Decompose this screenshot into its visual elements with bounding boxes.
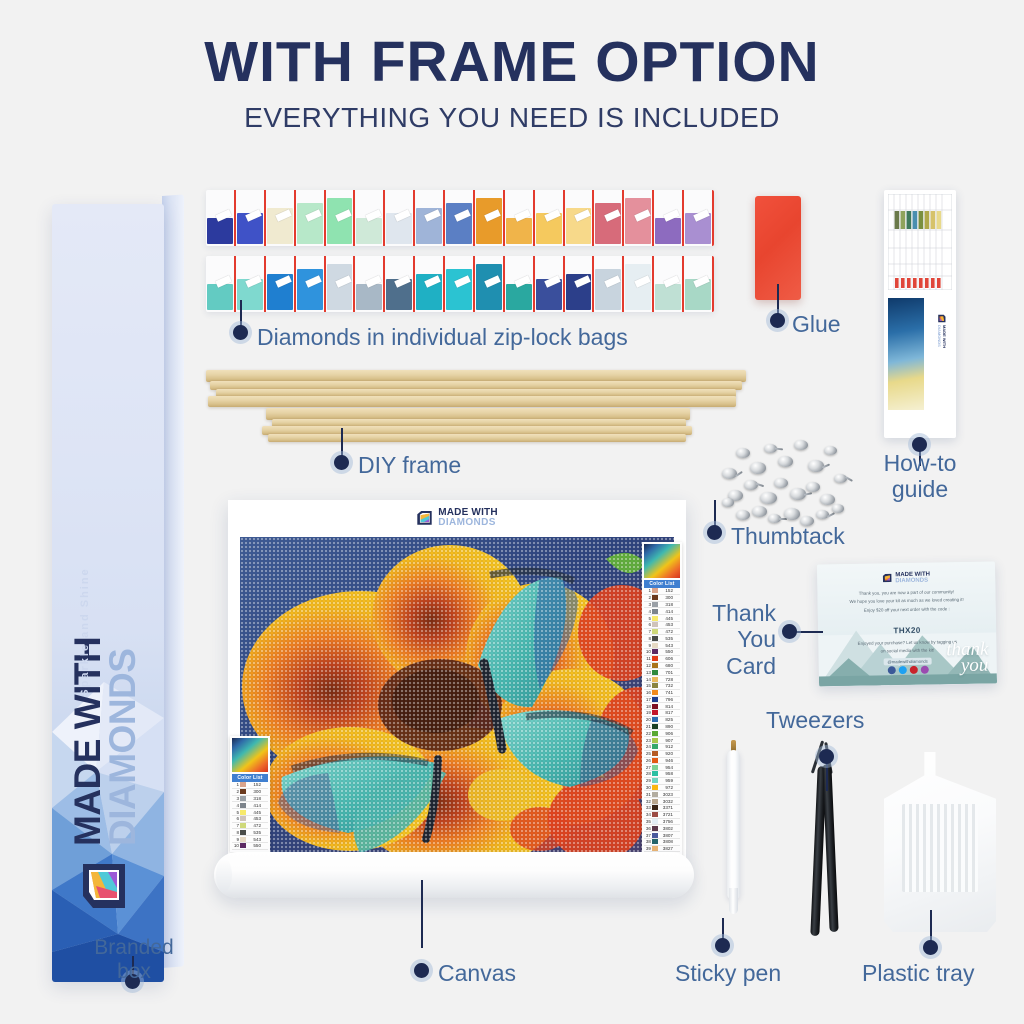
- thumbtack-leader-line: [714, 500, 716, 528]
- legend-row-code: 318: [659, 602, 673, 607]
- legend-row: 3318: [232, 796, 268, 803]
- legend-row-swatch: [240, 830, 246, 835]
- legend-row: 2300: [644, 595, 680, 602]
- legend-row-swatch: [652, 588, 658, 593]
- diamond-bag: [654, 256, 684, 312]
- legend-row-number: 2: [232, 789, 239, 794]
- thank-you-card-leader-line: [793, 631, 823, 633]
- legend-row-swatch: [652, 826, 658, 831]
- diamond-bag: [355, 256, 385, 312]
- pen-cone: [729, 888, 738, 914]
- tweezer-arm-right: [822, 764, 838, 932]
- canvas-artwork: [240, 537, 674, 855]
- pen-body: [727, 750, 740, 900]
- diamond-bag: [535, 190, 565, 246]
- legend-row-code: 701: [659, 670, 673, 675]
- thumbtack-head: [760, 492, 777, 504]
- plastic-tray-dot: [923, 940, 938, 955]
- guide-color-table: [888, 194, 952, 290]
- legend-row: 373807: [644, 832, 680, 839]
- legend-row: 27954: [644, 764, 680, 771]
- legend-row-number: 9: [232, 837, 239, 842]
- legend-row: 7472: [232, 823, 268, 830]
- bag-diamond-fill: [207, 218, 233, 244]
- how-to-guide-label: How-to guide: [860, 450, 980, 503]
- diamond-bag: [565, 190, 595, 246]
- bag-diamond-fill: [476, 198, 502, 244]
- legend-row: 19817: [644, 710, 680, 717]
- legend-row-code: 959: [659, 778, 673, 783]
- legend-row-code: 414: [247, 803, 261, 808]
- legend-row-number: 29: [644, 778, 651, 783]
- glue-label: Glue: [792, 311, 841, 337]
- legend-row-code: 3808: [659, 839, 673, 844]
- diamond-bag: [475, 190, 505, 246]
- legend-row-swatch: [652, 616, 658, 621]
- legend-row: 333371: [644, 805, 680, 812]
- canvas-product: MADE WITH DIAMONDS: [228, 500, 686, 900]
- legend-row-swatch: [652, 683, 658, 688]
- legend-rows: 1152230033184414544564537472853595431055…: [644, 588, 680, 859]
- legend-row: 3318: [644, 602, 680, 609]
- legend-row: 12680: [644, 663, 680, 670]
- page-title: WITH FRAME OPTION: [0, 34, 1024, 91]
- legend-row-code: 732: [659, 683, 673, 688]
- legend-row-code: 3032: [659, 799, 673, 804]
- legend-row: 1152: [232, 782, 268, 789]
- diamond-bag: [654, 190, 684, 246]
- legend-row-code: 472: [247, 823, 261, 828]
- legend-row-number: 10: [232, 843, 239, 848]
- bag-seal: [712, 256, 714, 312]
- legend-row-code: 907: [659, 738, 673, 743]
- branded-box-label: Branded box: [46, 936, 222, 984]
- legend-row-swatch: [652, 636, 658, 641]
- legend-row-code: 680: [659, 663, 673, 668]
- legend-row-swatch: [652, 744, 658, 749]
- card-social-handle: @madewithdiamonds: [883, 658, 931, 666]
- legend-row-code: 825: [659, 717, 673, 722]
- bag-diamond-fill: [506, 284, 532, 310]
- legend-row-number: 9: [644, 643, 651, 648]
- legend-row-swatch: [240, 796, 246, 801]
- sticky-pen-label: Sticky pen: [675, 960, 781, 986]
- legend-row-swatch: [652, 602, 658, 607]
- legend-row-code: 3802: [659, 826, 673, 831]
- legend-row-swatch: [652, 812, 658, 817]
- legend-row-number: 22: [644, 731, 651, 736]
- diamond-bag: [326, 256, 356, 312]
- legend-row-swatch: [652, 643, 658, 648]
- legend-row-swatch: [652, 629, 658, 634]
- legend-row-swatch: [652, 697, 658, 702]
- legend-row: 9543: [644, 642, 680, 649]
- glue-dot: [770, 313, 785, 328]
- legend-row-code: 972: [659, 785, 673, 790]
- bag-diamond-fill: [655, 218, 681, 244]
- legend-row: 21890: [644, 724, 680, 731]
- legend-row: 30972: [644, 785, 680, 792]
- legend-row: 1152: [644, 588, 680, 595]
- thumbtack-head: [736, 448, 750, 458]
- legend-row-swatch: [652, 704, 658, 709]
- legend-row-number: 25: [644, 751, 651, 756]
- diamond-bag: [385, 190, 415, 246]
- legend-row-swatch: [652, 690, 658, 695]
- canvas-roll: [214, 852, 694, 898]
- legend-row-swatch: [240, 837, 246, 842]
- legend-row-swatch: [240, 810, 246, 815]
- box-front-face: MADE WITH DIAMONDS: [52, 204, 164, 982]
- legend-row-number: 37: [644, 833, 651, 838]
- legend-row: 6453: [644, 622, 680, 629]
- diamond-bag: [684, 190, 714, 246]
- legend-row: 28958: [644, 771, 680, 778]
- bag-diamond-fill: [506, 218, 532, 244]
- diamond-bag: [206, 190, 236, 246]
- box-brand-line2: DIAMONDS: [106, 637, 141, 846]
- legend-row-code: 550: [659, 649, 673, 654]
- thumbtack-pin: [845, 476, 853, 482]
- canvas-diamond-logo-icon: [416, 510, 433, 527]
- legend-row-code: 728: [659, 677, 673, 682]
- sticky-pen-product: [723, 738, 745, 918]
- legend-row: 13701: [644, 669, 680, 676]
- legend-row-number: 3: [232, 796, 239, 801]
- legend-row-code: 152: [659, 588, 673, 593]
- legend-row-code: 453: [659, 622, 673, 627]
- thank-you-card-label: Thank You Card: [676, 600, 776, 679]
- legend-thumbnail: [644, 544, 680, 578]
- legend-row-number: 17: [644, 697, 651, 702]
- canvas-brand-line2: DIAMONDS: [438, 518, 498, 528]
- diamond-bag: [266, 256, 296, 312]
- legend-row-number: 30: [644, 785, 651, 790]
- legend-row-code: 3023: [659, 792, 673, 797]
- legend-row-code: 472: [659, 629, 673, 634]
- legend-row-number: 11: [644, 656, 651, 661]
- card-body-top: Thank you, you are now a part of our com…: [827, 588, 985, 616]
- legend-row-swatch: [652, 609, 658, 614]
- canvas-bead-texture: [240, 537, 674, 855]
- legend-row: 8535: [644, 635, 680, 642]
- legend-row-swatch: [652, 819, 658, 824]
- legend-row-swatch: [240, 803, 246, 808]
- legend-row-number: 39: [644, 846, 651, 851]
- legend-row: 383808: [644, 839, 680, 846]
- legend-row-number: 36: [644, 826, 651, 831]
- legend-row: 2300: [232, 789, 268, 796]
- legend-row-swatch: [240, 823, 246, 828]
- legend-row-number: 23: [644, 738, 651, 743]
- legend-row: 5445: [232, 809, 268, 816]
- legend-row-swatch: [652, 833, 658, 838]
- legend-row-number: 7: [232, 823, 239, 828]
- canvas-dot: [414, 963, 429, 978]
- thumbtack-head: [784, 508, 800, 520]
- legend-row-code: 906: [659, 731, 673, 736]
- legend-row-swatch: [240, 789, 246, 794]
- diamond-bags-dot: [233, 325, 248, 340]
- diamond-bag: [326, 190, 356, 246]
- diamond-bags-product: [206, 190, 714, 315]
- legend-row-number: 4: [644, 609, 651, 614]
- thumbtack-pin: [804, 492, 812, 495]
- diamond-bag: [594, 190, 624, 246]
- legend-row: 8535: [232, 829, 268, 836]
- diamond-bag: [236, 190, 266, 246]
- plastic-tray-product: [884, 752, 996, 932]
- box-tagline: Sparkle and Shine: [79, 537, 91, 727]
- legend-row-code: 817: [659, 710, 673, 715]
- thumbtack-head: [722, 468, 737, 479]
- bag-diamond-fill: [356, 218, 382, 244]
- legend-row-swatch: [652, 751, 658, 756]
- legend-row: 6453: [232, 816, 268, 823]
- legend-row-number: 38: [644, 839, 651, 844]
- legend-row-swatch: [652, 656, 658, 661]
- diamond-logo-icon: [80, 860, 132, 912]
- diamond-bag: [266, 190, 296, 246]
- how-to-guide-product: MADE WITH DIAMONDS: [884, 190, 956, 438]
- legend-row-code: 3721: [659, 812, 673, 817]
- legend-row-swatch: [652, 724, 658, 729]
- diamond-bag: [355, 190, 385, 246]
- canvas-sheet: MADE WITH DIAMONDS: [228, 500, 686, 872]
- thumbtack-label: Thumbtack: [731, 523, 845, 549]
- legend-row: 23907: [644, 737, 680, 744]
- legend-row-number: 4: [232, 803, 239, 808]
- legend-row-number: 18: [644, 704, 651, 709]
- legend-row-swatch: [652, 758, 658, 763]
- canvas-leader-line: [421, 880, 423, 948]
- legend-row-code: 318: [247, 796, 261, 801]
- legend-row-number: 7: [644, 629, 651, 634]
- legend-row-code: 796: [659, 697, 673, 702]
- diy-frame-dot: [334, 455, 349, 470]
- legend-row-code: 912: [659, 744, 673, 749]
- legend-row-swatch: [652, 710, 658, 715]
- diamond-bag: [624, 190, 654, 246]
- legend-row-swatch: [652, 799, 658, 804]
- sticky-pen-dot: [715, 938, 730, 953]
- legend-row-code: 543: [247, 837, 261, 842]
- guide-diamond-logo-icon: [937, 314, 946, 323]
- thank-you-card-product: MADE WITH DIAMONDS Thank you, you are no…: [818, 563, 996, 685]
- legend-row-number: 31: [644, 792, 651, 797]
- diamond-bag: [684, 256, 714, 312]
- thumbtack-head: [832, 504, 844, 513]
- bag-seal: [712, 190, 714, 246]
- legend-row: 22906: [644, 730, 680, 737]
- legend-row-code: 414: [659, 609, 673, 614]
- legend-row: 17796: [644, 697, 680, 704]
- legend-row-code: 606: [659, 656, 673, 661]
- legend-row-code: 890: [659, 724, 673, 729]
- legend-row-code: 445: [247, 810, 261, 815]
- diamond-bag: [385, 256, 415, 312]
- legend-row-code: 550: [247, 843, 261, 848]
- diamond-bag: [505, 190, 535, 246]
- diamond-bag: [415, 256, 445, 312]
- diamond-bags-leader-line: [240, 300, 242, 328]
- legend-row-number: 6: [644, 622, 651, 627]
- guide-cover-photo: [888, 298, 924, 410]
- legend-row: 323032: [644, 798, 680, 805]
- legend-row-number: 8: [232, 830, 239, 835]
- legend-row-code: 741: [659, 690, 673, 695]
- legend-title-left: Color List: [232, 774, 268, 782]
- tweezers-label: Tweezers: [766, 707, 864, 733]
- legend-row-code: 535: [247, 830, 261, 835]
- legend-row-swatch: [652, 595, 658, 600]
- thumbtack-head: [824, 446, 837, 455]
- diy-frame-label: DIY frame: [358, 452, 461, 478]
- legend-row-number: 24: [644, 744, 651, 749]
- legend-row-number: 27: [644, 765, 651, 770]
- thumbtack-head: [752, 506, 767, 517]
- thank-you-card-face: MADE WITH DIAMONDS Thank you, you are no…: [817, 561, 997, 686]
- bag-diamond-fill: [356, 284, 382, 310]
- diamond-bag: [445, 256, 475, 312]
- card-brand-line2: DIAMONDS: [895, 578, 930, 585]
- frame-slat: [268, 434, 686, 442]
- legend-row-code: 453: [247, 816, 261, 821]
- legend-row-swatch: [652, 839, 658, 844]
- diamond-bag: [415, 190, 445, 246]
- legend-row-swatch: [652, 649, 658, 654]
- legend-row-code: 3807: [659, 833, 673, 838]
- diamond-bag: [445, 190, 475, 246]
- legend-row: 18814: [644, 703, 680, 710]
- guide-brand-lockup: MADE WITH DIAMONDS: [930, 312, 948, 398]
- legend-row-swatch: [652, 771, 658, 776]
- guide-brand-line1: MADE WITH: [942, 325, 946, 348]
- diamond-bag-row-2: [206, 256, 714, 312]
- thumbtack-head: [774, 478, 788, 488]
- legend-row-code: 300: [247, 789, 261, 794]
- legend-row-swatch: [652, 778, 658, 783]
- legend-row-swatch: [652, 677, 658, 682]
- thumbtack-head: [722, 498, 734, 507]
- legend-row: 4414: [644, 608, 680, 615]
- legend-row-swatch: [652, 731, 658, 736]
- tweezers-product: [805, 740, 845, 940]
- canvas-color-list-right: Color List 11522300331844145445645374728…: [642, 542, 682, 861]
- legend-row-number: 1: [644, 588, 651, 593]
- branded-box-product: MADE WITH DIAMONDS Sparkle and Shine: [52, 196, 184, 986]
- legend-row: 353756: [644, 819, 680, 826]
- diamond-bags-label: Diamonds in individual zip-lock bags: [257, 324, 628, 350]
- legend-row-number: 15: [644, 683, 651, 688]
- twitter-icon: [898, 666, 906, 674]
- legend-row-swatch: [652, 792, 658, 797]
- thumbtack-head: [794, 440, 808, 450]
- canvas-brand-lockup: MADE WITH DIAMONDS: [228, 508, 686, 528]
- thank-you-card-dot: [782, 624, 797, 639]
- legend-row-code: 920: [659, 751, 673, 756]
- legend-row: 10550: [644, 649, 680, 656]
- legend-row-number: 16: [644, 690, 651, 695]
- legend-row-number: 8: [644, 636, 651, 641]
- card-script-line2: you: [960, 657, 988, 674]
- legend-row-swatch: [652, 805, 658, 810]
- legend-row-code: 543: [659, 643, 673, 648]
- legend-row: 25920: [644, 751, 680, 758]
- canvas-color-list-left: Color List 11522300331844145445645374728…: [230, 736, 270, 852]
- legend-row-swatch: [652, 765, 658, 770]
- legend-row: 4414: [232, 802, 268, 809]
- legend-row-swatch: [652, 846, 658, 851]
- pinterest-icon: [909, 666, 917, 674]
- guide-sheet: MADE WITH DIAMONDS: [884, 190, 956, 438]
- diamond-bag-row-1: [206, 190, 714, 246]
- diamond-bag: [505, 256, 535, 312]
- legend-row-number: 12: [644, 663, 651, 668]
- diamond-bag: [535, 256, 565, 312]
- legend-row-number: 14: [644, 677, 651, 682]
- box-side-panel: [162, 194, 184, 968]
- facebook-icon: [887, 666, 895, 674]
- card-diamond-logo-icon: [882, 573, 892, 583]
- diamond-bag: [594, 256, 624, 312]
- legend-row-number: 5: [644, 616, 651, 621]
- legend-row-number: 19: [644, 710, 651, 715]
- legend-row-code: 535: [659, 636, 673, 641]
- legend-row-swatch: [652, 622, 658, 627]
- legend-row-code: 3371: [659, 805, 673, 810]
- legend-row-swatch: [652, 670, 658, 675]
- diamond-bag: [565, 256, 595, 312]
- legend-row: 11606: [644, 656, 680, 663]
- box-brand-lockup: MADE WITH DIAMONDS: [52, 206, 162, 966]
- thumbtack-head: [750, 462, 766, 474]
- legend-row: 16741: [644, 690, 680, 697]
- legend-row-code: 958: [659, 771, 673, 776]
- legend-row-swatch: [652, 717, 658, 722]
- plastic-tray-label: Plastic tray: [862, 960, 974, 986]
- legend-row-number: 3: [644, 602, 651, 607]
- legend-title: Color List: [644, 580, 680, 588]
- legend-row: 313023: [644, 791, 680, 798]
- page-subtitle: EVERYTHING YOU NEED IS INCLUDED: [0, 104, 1024, 132]
- legend-row: 14728: [644, 676, 680, 683]
- legend-row-code: 3756: [659, 819, 673, 824]
- legend-rows-left: 1152230033184414544564537472853595431055…: [232, 782, 268, 850]
- diamond-bag: [296, 190, 326, 246]
- card-thank-you-script: thank you: [946, 641, 989, 674]
- legend-row-number: 21: [644, 724, 651, 729]
- legend-row: 9543: [232, 836, 268, 843]
- diy-frame-product: [206, 368, 746, 456]
- instagram-icon: [920, 666, 928, 674]
- legend-row-number: 33: [644, 805, 651, 810]
- legend-row-code: 954: [659, 765, 673, 770]
- legend-row: 7472: [644, 629, 680, 636]
- legend-row: 10550: [232, 843, 268, 850]
- legend-row: 24912: [644, 744, 680, 751]
- legend-row-number: 26: [644, 758, 651, 763]
- legend-row-swatch: [652, 738, 658, 743]
- legend-row-number: 6: [232, 816, 239, 821]
- diamond-bag: [206, 256, 236, 312]
- legend-row-number: 1: [232, 782, 239, 787]
- thumbtack-dot: [707, 525, 722, 540]
- legend-row-code: 152: [247, 782, 261, 787]
- legend-row-code: 814: [659, 704, 673, 709]
- legend-row: 26946: [644, 758, 680, 765]
- legend-row: 29959: [644, 778, 680, 785]
